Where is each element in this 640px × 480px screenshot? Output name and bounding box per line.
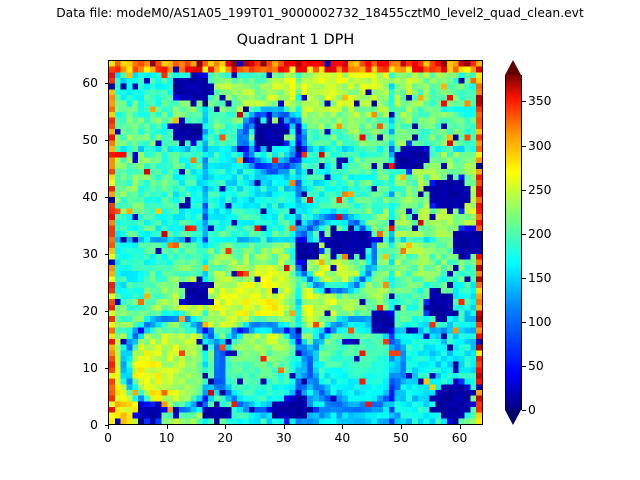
colorbar-tick-label: 350 xyxy=(528,94,551,108)
dph-heatmap-image xyxy=(109,61,482,424)
y-tick-mark xyxy=(105,83,109,84)
colorbar-tick-label: 200 xyxy=(528,227,551,241)
x-tick-label: 30 xyxy=(264,431,304,445)
y-tick-mark xyxy=(105,140,109,141)
y-tick-mark xyxy=(105,425,109,426)
colorbar-tick-label: 0 xyxy=(528,403,536,417)
x-tick-mark xyxy=(460,425,461,429)
colorbar-under-arrow-icon xyxy=(505,410,521,425)
y-tick-label: 60 xyxy=(58,76,98,90)
y-tick-mark xyxy=(105,368,109,369)
colorbar-tick-mark xyxy=(522,234,526,235)
x-tick-label: 20 xyxy=(205,431,245,445)
colorbar-tick-label: 250 xyxy=(528,183,551,197)
x-tick-mark xyxy=(284,425,285,429)
x-tick-label: 60 xyxy=(440,431,480,445)
data-file-label: Data file: modeM0/AS1A05_199T01_90000027… xyxy=(0,6,640,21)
x-tick-mark xyxy=(167,425,168,429)
x-tick-mark xyxy=(225,425,226,429)
colorbar-tick-label: 150 xyxy=(528,271,551,285)
x-tick-label: 50 xyxy=(381,431,421,445)
colorbar-tick-label: 300 xyxy=(528,139,551,153)
colorbar-tick-mark xyxy=(522,146,526,147)
y-tick-label: 20 xyxy=(58,304,98,318)
y-tick-mark xyxy=(105,197,109,198)
colorbar-tick-mark xyxy=(522,410,526,411)
y-tick-label: 30 xyxy=(58,247,98,261)
colorbar-tick-label: 100 xyxy=(528,315,551,329)
y-tick-label: 0 xyxy=(58,418,98,432)
colorbar[interactable] xyxy=(505,60,522,425)
y-tick-label: 40 xyxy=(58,190,98,204)
x-tick-label: 10 xyxy=(147,431,187,445)
y-tick-label: 10 xyxy=(58,361,98,375)
x-tick-mark xyxy=(108,425,109,429)
figure-canvas: Data file: modeM0/AS1A05_199T01_90000027… xyxy=(0,0,640,480)
colorbar-tick-mark xyxy=(522,101,526,102)
colorbar-tick-mark xyxy=(522,366,526,367)
plot-title: Quadrant 1 DPH xyxy=(108,31,483,49)
x-tick-mark xyxy=(401,425,402,429)
y-tick-mark xyxy=(105,311,109,312)
x-tick-mark xyxy=(342,425,343,429)
x-tick-label: 40 xyxy=(322,431,362,445)
x-tick-label: 0 xyxy=(88,431,128,445)
colorbar-tick-mark xyxy=(522,190,526,191)
colorbar-over-arrow-icon xyxy=(505,60,521,75)
colorbar-gradient xyxy=(505,75,522,410)
colorbar-tick-mark xyxy=(522,322,526,323)
colorbar-tick-mark xyxy=(522,278,526,279)
colorbar-tick-label: 50 xyxy=(528,359,544,373)
y-tick-mark xyxy=(105,254,109,255)
y-tick-label: 50 xyxy=(58,133,98,147)
heatmap-axes[interactable] xyxy=(108,60,483,425)
